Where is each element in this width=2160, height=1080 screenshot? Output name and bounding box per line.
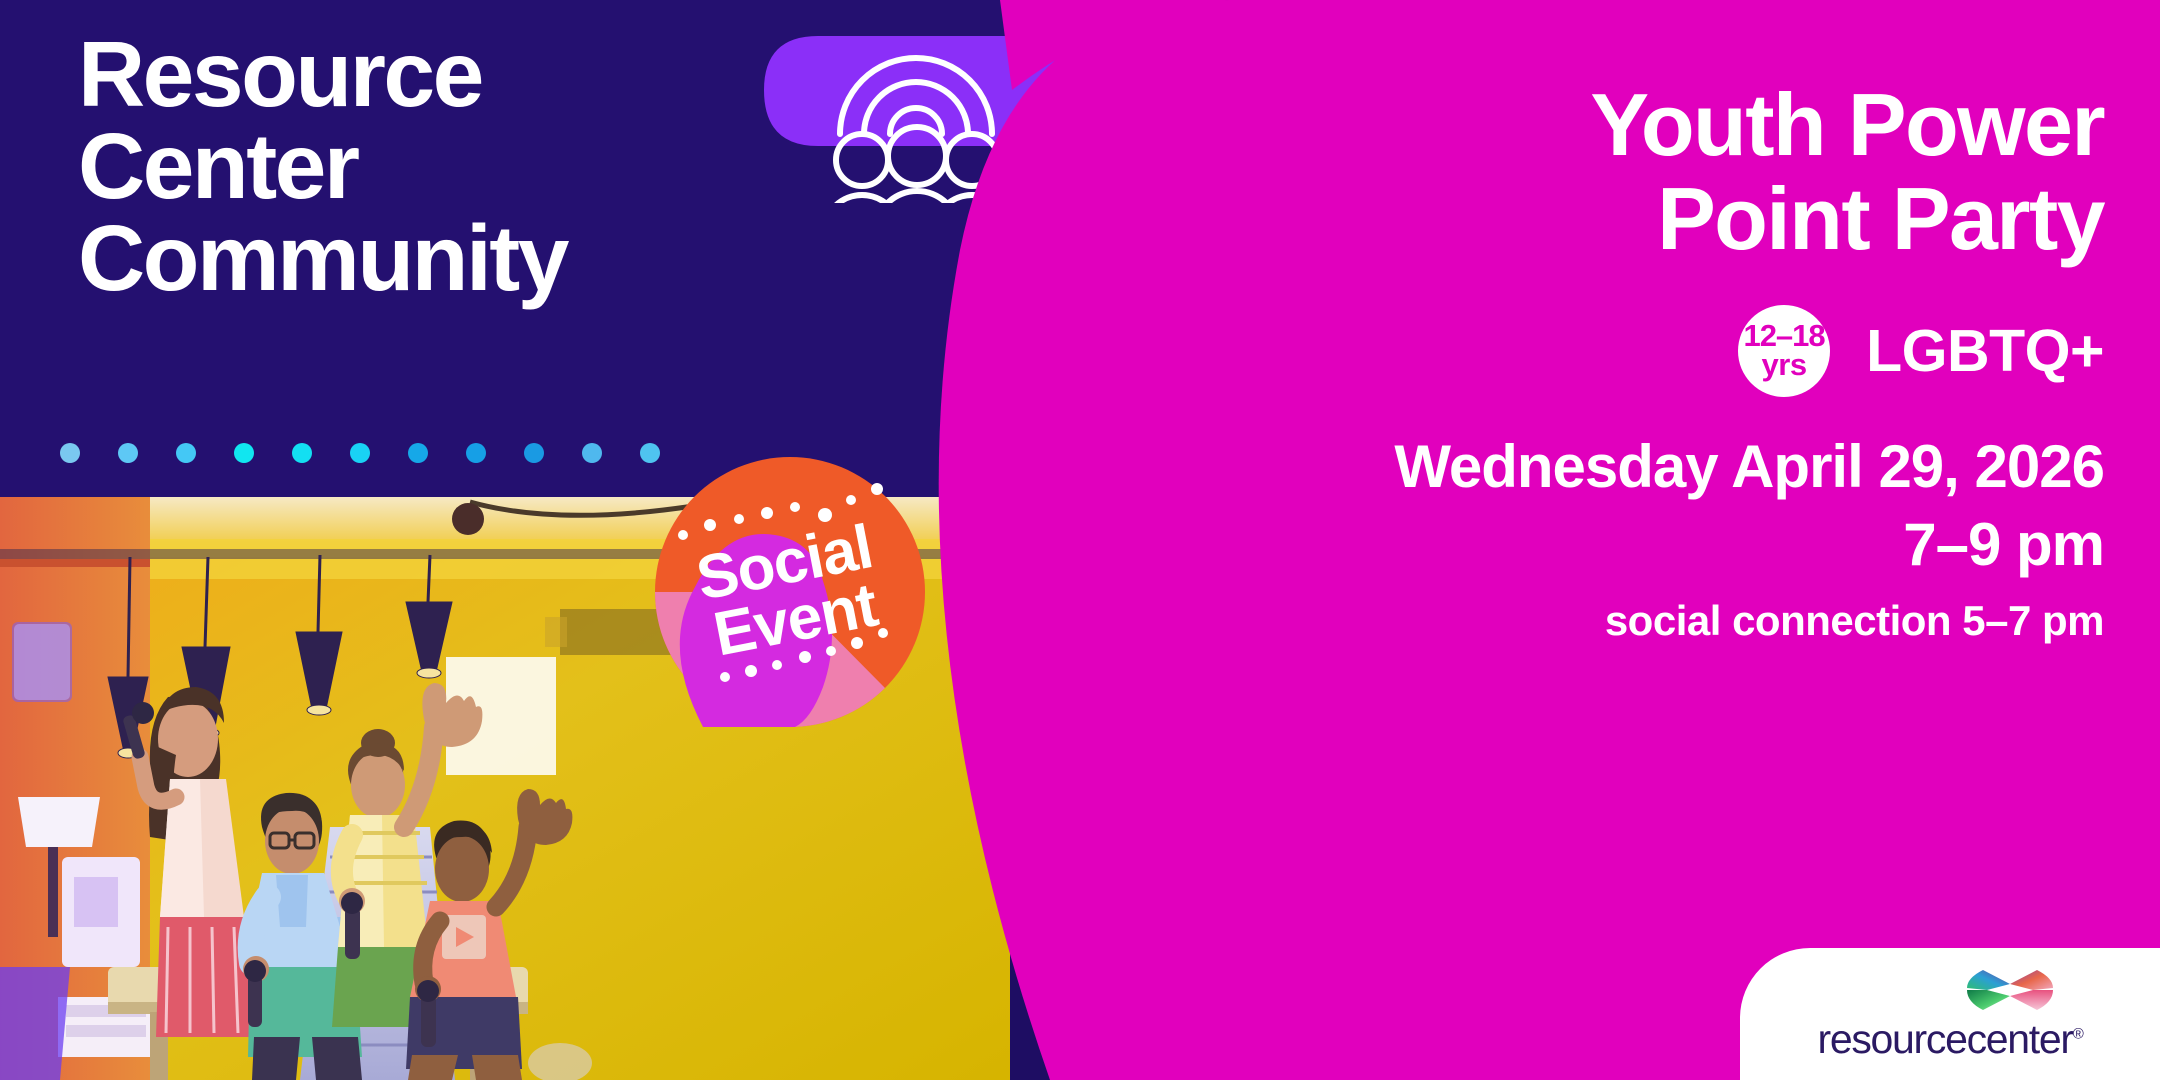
- dot: [582, 443, 602, 463]
- resource-center-logo-plate: resourcecenter®: [1740, 948, 2160, 1080]
- brand-title: Resource Center Community: [78, 28, 778, 304]
- audience-label: LGBTQ+: [1866, 317, 2104, 385]
- social-event-stamp: Social Event: [655, 457, 925, 727]
- dot: [408, 443, 428, 463]
- event-details: Youth Power Point Party 12–18 yrs LGBTQ+…: [1094, 0, 2104, 1080]
- pre-event-note: social connection 5–7 pm: [1094, 597, 2104, 645]
- brand-line-3: Community: [78, 212, 778, 304]
- age-range-badge: 12–18 yrs: [1738, 305, 1830, 397]
- audience-badges: 12–18 yrs LGBTQ+: [1094, 305, 2104, 397]
- event-time: 7–9 pm: [1094, 510, 2104, 579]
- dot: [466, 443, 486, 463]
- wordmark-resource: resource: [1817, 1016, 1966, 1062]
- stamp-text: Social Event: [632, 434, 949, 751]
- resource-center-wordmark: resourcecenter®: [1817, 1016, 2082, 1063]
- event-flyer: Resource Center Community: [0, 0, 2160, 1080]
- dot: [234, 443, 254, 463]
- dot: [524, 443, 544, 463]
- dot-divider: [60, 442, 660, 464]
- dot: [118, 443, 138, 463]
- brand-panel: Resource Center Community: [0, 0, 1010, 497]
- event-date: Wednesday April 29, 2026: [1094, 432, 2104, 501]
- dot: [176, 443, 196, 463]
- community-speech-bubble-icon: [756, 28, 1078, 203]
- dot: [292, 443, 312, 463]
- event-title: Youth Power Point Party: [1094, 78, 2104, 266]
- dot: [60, 443, 80, 463]
- dot: [350, 443, 370, 463]
- registered-mark: ®: [2073, 1025, 2083, 1042]
- wordmark-center: center: [1967, 1016, 2073, 1062]
- brand-line-1: Resource: [78, 28, 778, 120]
- resource-center-leaf-mark: [1965, 966, 2055, 1014]
- age-range-unit: yrs: [1762, 351, 1807, 380]
- brand-line-2: Center: [78, 120, 778, 212]
- event-title-line-1: Youth Power: [1094, 78, 2104, 172]
- event-title-line-2: Point Party: [1094, 172, 2104, 266]
